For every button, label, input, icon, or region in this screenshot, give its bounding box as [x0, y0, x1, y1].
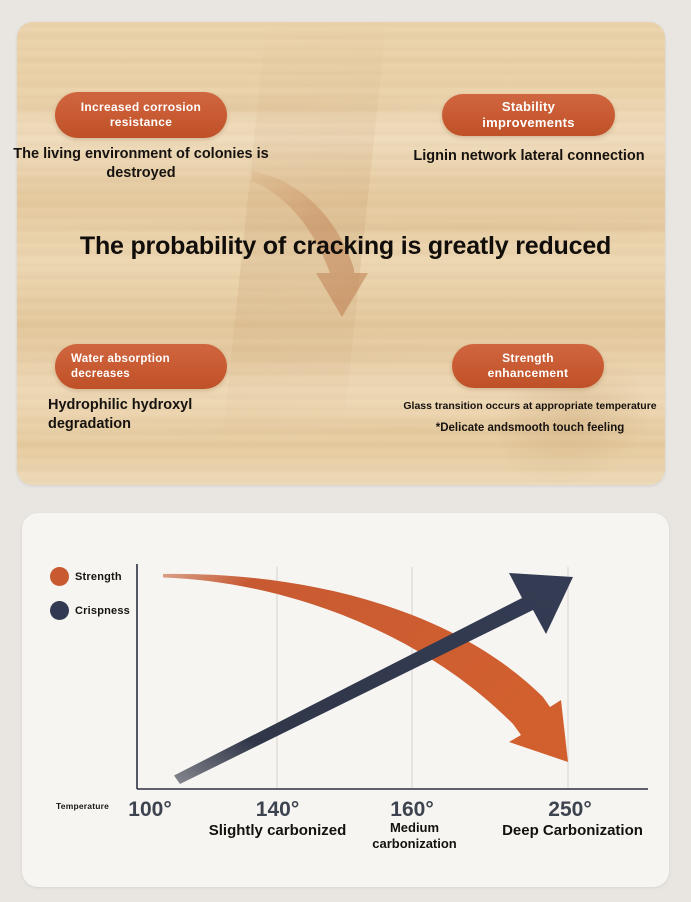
caption-water-absorption-decreases: Hydrophilic hydroxyl degradation	[48, 396, 248, 434]
tick-value-160: 160°	[372, 798, 452, 822]
tick-sublabel-140: Slightly carbonized	[175, 822, 380, 839]
badge-stability-improvements[interactable]: Stability improvements	[442, 94, 615, 136]
caption-stability-improvements: Lignin network lateral connection	[400, 147, 658, 166]
tick-value-100: 100°	[110, 798, 190, 822]
badge-water-absorption-decreases[interactable]: Water absorption decreases	[55, 344, 227, 389]
legend-label-crispness: Crispness	[75, 605, 130, 617]
chart-legend: Strength Crispness	[50, 567, 130, 635]
badge-strength-enhancement[interactable]: Strength enhancement	[452, 344, 604, 388]
tick-value-140: 140°	[225, 798, 330, 822]
caption-strength-enhancement-primary: Glass transition occurs at appropriate t…	[385, 400, 675, 414]
legend-item-strength[interactable]: Strength	[50, 567, 130, 586]
tick-value-250: 250°	[495, 798, 645, 822]
legend-dot-strength	[50, 567, 69, 586]
legend-label-strength: Strength	[75, 571, 122, 583]
tick-sublabel-250: Deep Carbonization	[480, 822, 665, 839]
caption-increased-corrosion-resistance: The living environment of colonies is de…	[8, 145, 274, 183]
legend-dot-crispness	[50, 601, 69, 620]
tick-sublabel-160: Medium carbonization	[357, 820, 472, 851]
caption-strength-enhancement-secondary: *Delicate andsmooth touch feeling	[420, 421, 640, 436]
axis-label-temperature: Temperature	[56, 801, 109, 811]
badge-increased-corrosion-resistance[interactable]: Increased corrosion resistance	[55, 92, 227, 138]
legend-item-crispness[interactable]: Crispness	[50, 601, 130, 620]
headline-text: The probability of cracking is greatly r…	[0, 232, 691, 261]
